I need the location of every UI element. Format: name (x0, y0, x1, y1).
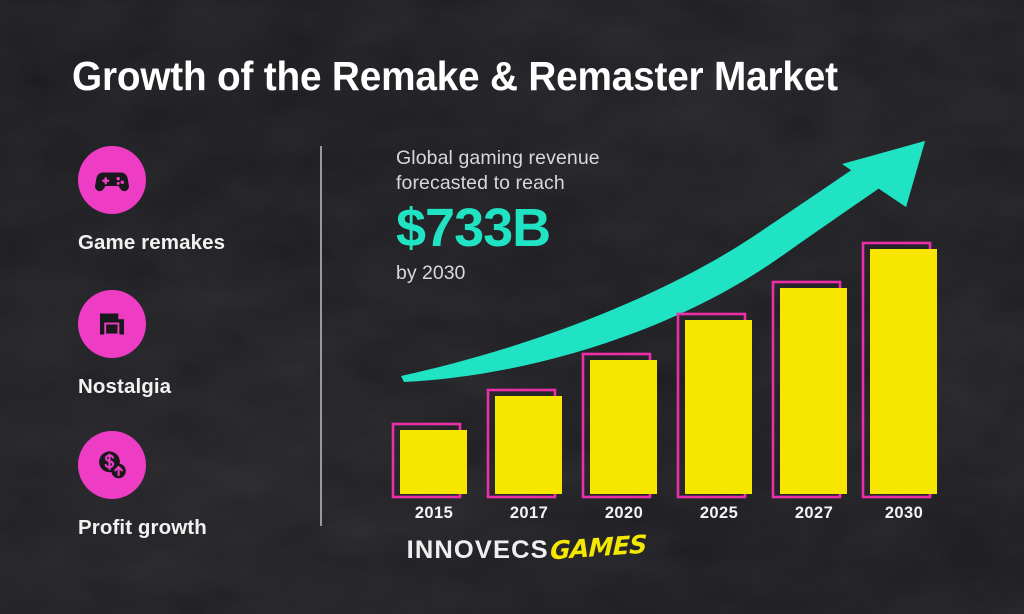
feature-item-profit-growth[interactable]: Profit growth (78, 431, 308, 540)
infographic-canvas: Growth of the Remake & Remaster Market G… (0, 0, 1024, 614)
vertical-divider (320, 146, 322, 526)
bar-2030 (863, 243, 937, 497)
x-tick-2030: 2030 (859, 504, 949, 523)
feature-label: Nostalgia (78, 375, 308, 399)
bar-2015 (393, 424, 467, 497)
feature-icon-circle (78, 146, 146, 214)
floppy-disk-icon (93, 305, 131, 343)
stat-lead-text: Global gaming revenue forecasted to reac… (396, 146, 696, 195)
x-tick-2025: 2025 (674, 504, 764, 523)
feature-icon-circle (78, 290, 146, 358)
gamepad-icon (92, 160, 132, 200)
page-title: Growth of the Remake & Remaster Market (72, 50, 923, 102)
stat-callout: Global gaming revenue forecasted to reac… (396, 146, 696, 285)
stat-sub-text: by 2030 (396, 261, 696, 285)
brand-logo: INNOVECS GAMES (408, 536, 647, 565)
bar-2020 (583, 354, 657, 497)
bar-2017 (488, 390, 562, 497)
stat-lead-line-1: Global gaming revenue (396, 147, 600, 169)
feature-item-nostalgia[interactable]: Nostalgia (78, 290, 308, 399)
x-tick-2015: 2015 (389, 504, 479, 523)
logo-games-text: GAMES (550, 530, 648, 566)
logo-innovecs-text: INNOVECS (407, 536, 549, 565)
x-tick-2017: 2017 (484, 504, 574, 523)
feature-item-game-remakes[interactable]: Game remakes (78, 146, 308, 255)
bar-2027 (773, 282, 847, 497)
x-tick-2020: 2020 (579, 504, 669, 523)
x-tick-2027: 2027 (769, 504, 859, 523)
feature-icon-circle (78, 431, 146, 499)
stat-lead-line-2: forecasted to reach (396, 172, 565, 194)
stat-value: $733B (396, 199, 696, 257)
bar-2025 (678, 314, 752, 497)
dollar-coin-growth-icon (92, 445, 132, 485)
feature-label: Profit growth (78, 516, 308, 540)
feature-label: Game remakes (78, 231, 308, 255)
